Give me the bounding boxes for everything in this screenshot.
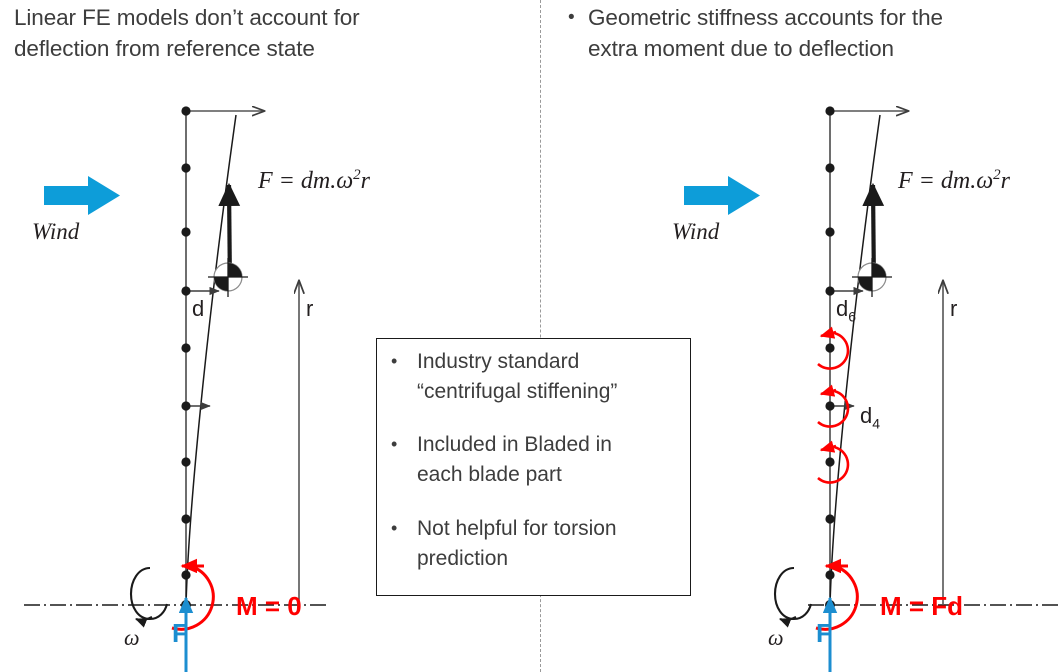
wind-label-right: Wind (672, 219, 719, 245)
force-label-right: F (816, 618, 832, 649)
info-bullet-2-line1: Not helpful for torsion (417, 517, 617, 540)
omega-label-right: ω (768, 625, 784, 651)
info-bullet-0-line2: “centrifugal stiffening” (417, 380, 617, 403)
slide-canvas: • Linear FE models don’t account for def… (0, 0, 1062, 672)
bullet-marker: • (391, 347, 417, 376)
rotation-omega-symbol (131, 568, 167, 620)
info-bullet-1-text: Included in Bladed in each blade part (417, 430, 612, 489)
info-bullet-1-line1: Included in Bladed in (417, 433, 612, 456)
d6-base: d (836, 296, 848, 321)
moment-label-right: M = Fd (880, 591, 963, 622)
d6-subscript: 6 (848, 308, 856, 324)
info-bullet-2: • Not helpful for torsion prediction (391, 514, 681, 573)
d4-subscript: 4 (872, 415, 880, 431)
omega-label-left: ω (124, 625, 140, 651)
bullet-marker: • (391, 514, 417, 543)
formula-eq: = (919, 168, 935, 194)
info-bullet-2-line2: prediction (417, 547, 508, 570)
formula-rhs: dm.ω (301, 168, 353, 194)
info-bullet-0: • Industry standard “centrifugal stiffen… (391, 347, 681, 406)
d4-base: d (860, 403, 872, 428)
rotation-omega-symbol (775, 568, 811, 620)
formula-exponent: 2 (993, 167, 1001, 183)
formula-tail: r (361, 168, 370, 194)
wind-arrow-right (684, 176, 762, 216)
moment-label-left: M = 0 (236, 591, 302, 622)
right-blade-svg (640, 0, 1062, 672)
info-bullet-0-line1: Industry standard (417, 350, 579, 373)
formula-rhs: dm.ω (941, 168, 993, 194)
formula-tail: r (1001, 168, 1010, 194)
formula-lhs: F (898, 168, 913, 194)
formula-eq: = (279, 168, 295, 194)
formula-lhs: F (258, 168, 273, 194)
formula-exponent: 2 (353, 167, 361, 183)
radius-label-left: r (306, 296, 313, 322)
info-bullet-0-text: Industry standard “centrifugal stiffenin… (417, 347, 617, 406)
formula-right: F = dm.ω2r (898, 167, 1010, 195)
bullet-marker: • (391, 430, 417, 459)
info-bullet-2-text: Not helpful for torsion prediction (417, 514, 617, 573)
info-bullet-1-line2: each blade part (417, 463, 562, 486)
info-bullet-1: • Included in Bladed in each blade part (391, 430, 681, 489)
radius-label-right: r (950, 296, 957, 322)
deflection-label-d4: d4 (860, 403, 880, 431)
wind-label-left: Wind (32, 219, 79, 245)
deflection-label-d-left: d (192, 296, 204, 322)
deflection-label-d6: d6 (836, 296, 856, 324)
force-label-left: F (172, 618, 188, 649)
bullet-marker: • (568, 3, 588, 33)
wind-arrow-left (44, 176, 122, 216)
formula-left: F = dm.ω2r (258, 167, 370, 195)
